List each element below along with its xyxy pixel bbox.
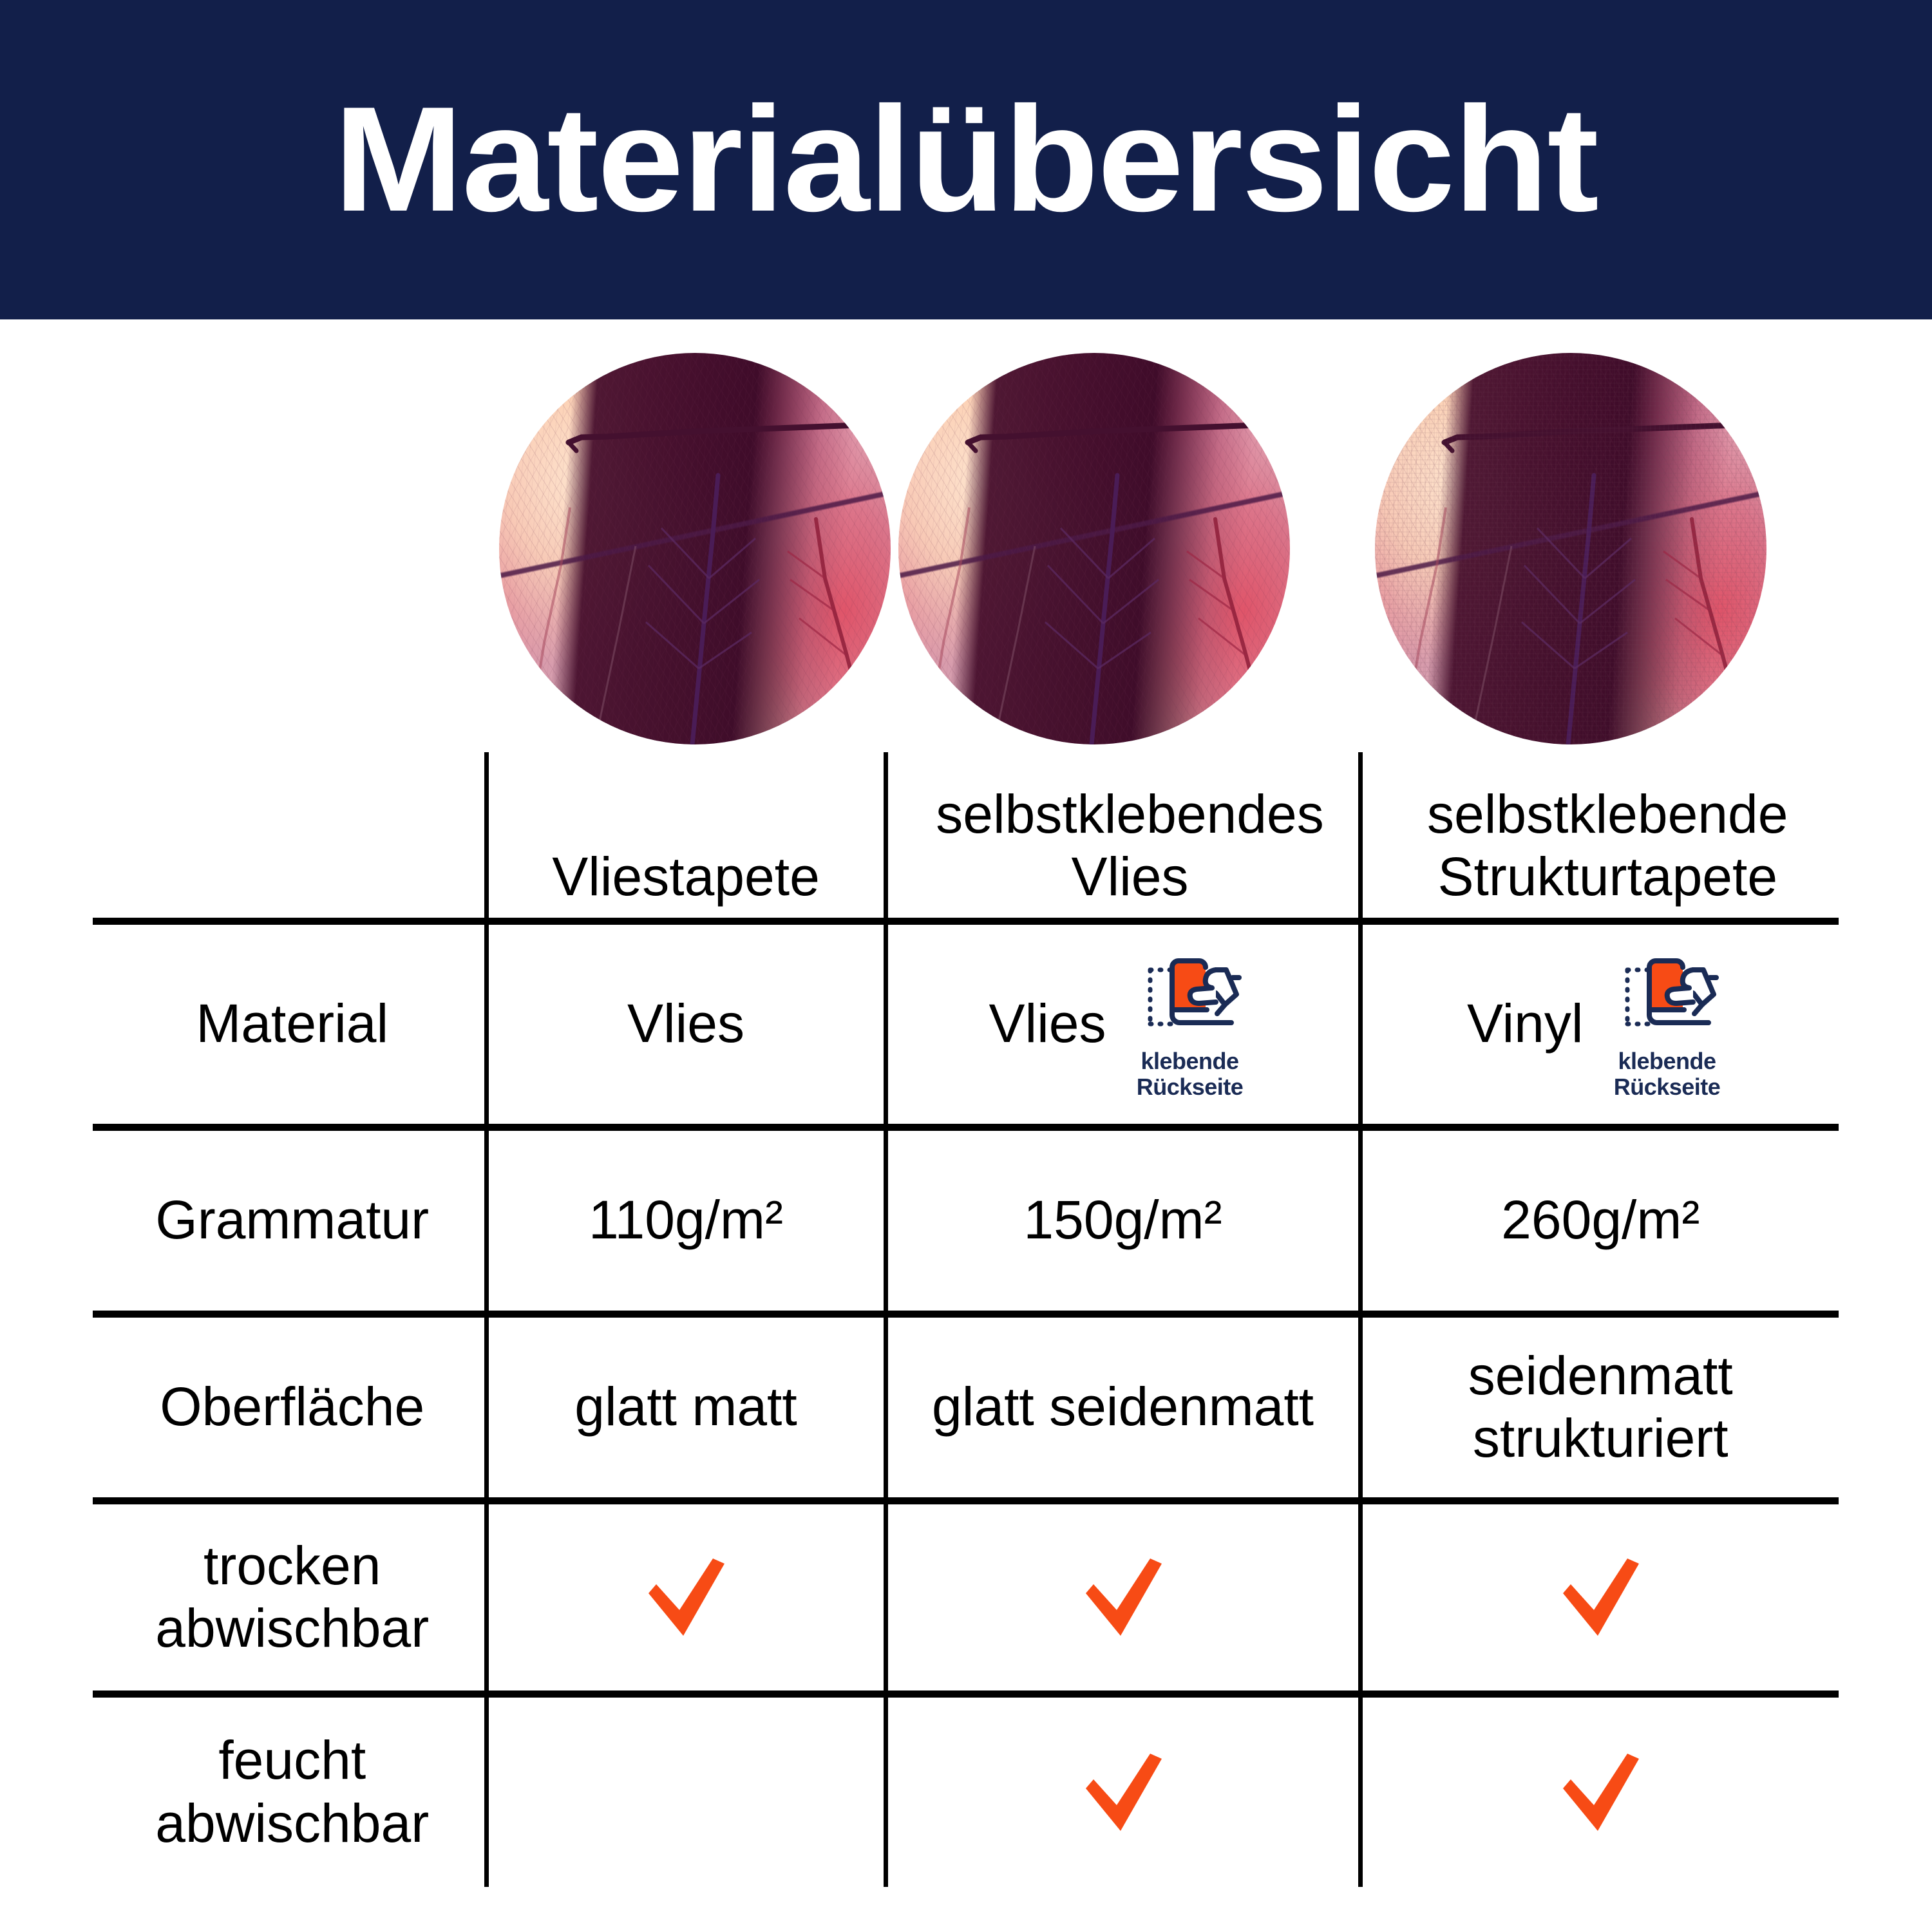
adhesive-label-line1: klebende bbox=[1618, 1048, 1716, 1074]
row-label-material: Material bbox=[93, 921, 486, 1127]
adhesive-label-line2: Rückseite bbox=[1137, 1074, 1244, 1100]
row-label-trocken-abwischbar: trocken abwischbar bbox=[93, 1501, 486, 1694]
header-banner: Materialübersicht bbox=[0, 0, 1932, 319]
adhesive-badge-label: klebende Rückseite bbox=[1137, 1048, 1244, 1101]
cell-feucht-selbstklebende-strukturtapete bbox=[1360, 1694, 1839, 1887]
cell-value: Vlies bbox=[989, 992, 1106, 1055]
adhesive-backing-badge: klebende Rückseite bbox=[1600, 948, 1734, 1101]
preview-circle-strip bbox=[486, 353, 1839, 752]
checkmark-slot bbox=[888, 1555, 1358, 1640]
leaf-preview-vliestapete bbox=[499, 353, 891, 744]
leaf-preview-selbstklebende-strukturtapete bbox=[1375, 353, 1766, 744]
leaf-preview-selbstklebendes-vlies bbox=[898, 353, 1290, 744]
checkmark-slot bbox=[888, 1750, 1358, 1835]
cell-value: Vinyl bbox=[1467, 992, 1584, 1055]
peel-adhesive-backing-icon bbox=[1612, 948, 1723, 1045]
column-header-selbstklebendes-vlies: selbstklebendes Vlies bbox=[885, 752, 1360, 921]
material-spec-table: Vliestapete selbstklebendes Vlies selbst… bbox=[93, 752, 1839, 1887]
adhesive-label-line1: klebende bbox=[1141, 1048, 1239, 1074]
table-row-grammatur: Grammatur 110g/m² 150g/m² 260g/m² bbox=[93, 1127, 1839, 1314]
cell-trocken-selbstklebende-strukturtapete bbox=[1360, 1501, 1839, 1694]
table-row-oberflaeche: Oberfläche glatt matt glatt seidenmatt s… bbox=[93, 1314, 1839, 1501]
leaf-stem-lines bbox=[898, 353, 1290, 744]
cell-oberflaeche-selbstklebende-strukturtapete: seidenmatt strukturiert bbox=[1360, 1314, 1839, 1501]
cell-trocken-selbstklebendes-vlies bbox=[885, 1501, 1360, 1694]
checkmark-icon bbox=[637, 1555, 735, 1640]
preview-cell-2 bbox=[898, 353, 1298, 752]
cell-material-selbstklebendes-vlies: Vlies bbox=[885, 921, 1360, 1127]
adhesive-label-line2: Rückseite bbox=[1614, 1074, 1721, 1100]
preview-cell-3 bbox=[1375, 353, 1774, 752]
cell-grammatur-selbstklebende-strukturtapete: 260g/m² bbox=[1360, 1127, 1839, 1314]
structured-texture-overlay bbox=[1375, 353, 1766, 744]
cell-oberflaeche-vliestapete: glatt matt bbox=[486, 1314, 885, 1501]
checkmark-icon bbox=[1551, 1750, 1649, 1835]
table-row-trocken-abwischbar: trocken abwischbar bbox=[93, 1501, 1839, 1694]
checkmark-icon bbox=[1074, 1750, 1172, 1835]
checkmark-slot bbox=[489, 1555, 884, 1640]
cell-value: Vlies bbox=[627, 992, 744, 1055]
column-header-selbstklebende-strukturtapete: selbstklebende Strukturtapete bbox=[1360, 752, 1839, 921]
cell-material-selbstklebende-strukturtapete: Vinyl bbox=[1360, 921, 1839, 1127]
cell-trocken-vliestapete bbox=[486, 1501, 885, 1694]
checkmark-icon bbox=[1074, 1555, 1172, 1640]
page-title: Materialübersicht bbox=[334, 85, 1598, 234]
table-header-row: Vliestapete selbstklebendes Vlies selbst… bbox=[93, 752, 1839, 921]
material-overview-page: Materialübersicht bbox=[0, 0, 1932, 1932]
cell-material-vliestapete: Vlies bbox=[486, 921, 885, 1127]
table-row-feucht-abwischbar: feucht abwischbar bbox=[93, 1694, 1839, 1887]
preview-cell-1 bbox=[499, 353, 898, 752]
adhesive-badge-label: klebende Rückseite bbox=[1614, 1048, 1721, 1101]
checkmark-slot bbox=[1363, 1750, 1839, 1835]
checkmark-slot bbox=[1363, 1555, 1839, 1640]
cell-feucht-vliestapete bbox=[486, 1694, 885, 1887]
cell-oberflaeche-selbstklebendes-vlies: glatt seidenmatt bbox=[885, 1314, 1360, 1501]
adhesive-backing-badge: klebende Rückseite bbox=[1123, 948, 1257, 1101]
checkmark-slot-empty bbox=[489, 1789, 495, 1795]
table-row-material: Material Vlies Vlies bbox=[93, 921, 1839, 1127]
cell-grammatur-selbstklebendes-vlies: 150g/m² bbox=[885, 1127, 1360, 1314]
checkmark-icon bbox=[1551, 1555, 1649, 1640]
row-label-oberflaeche: Oberfläche bbox=[93, 1314, 486, 1501]
cell-grammatur-vliestapete: 110g/m² bbox=[486, 1127, 885, 1314]
header-blank-cell bbox=[93, 752, 486, 921]
peel-adhesive-backing-icon bbox=[1135, 948, 1245, 1045]
cell-feucht-selbstklebendes-vlies bbox=[885, 1694, 1360, 1887]
leaf-stem-lines bbox=[499, 353, 891, 744]
row-label-feucht-abwischbar: feucht abwischbar bbox=[93, 1694, 486, 1887]
row-label-grammatur: Grammatur bbox=[93, 1127, 486, 1314]
column-header-vliestapete: Vliestapete bbox=[486, 752, 885, 921]
